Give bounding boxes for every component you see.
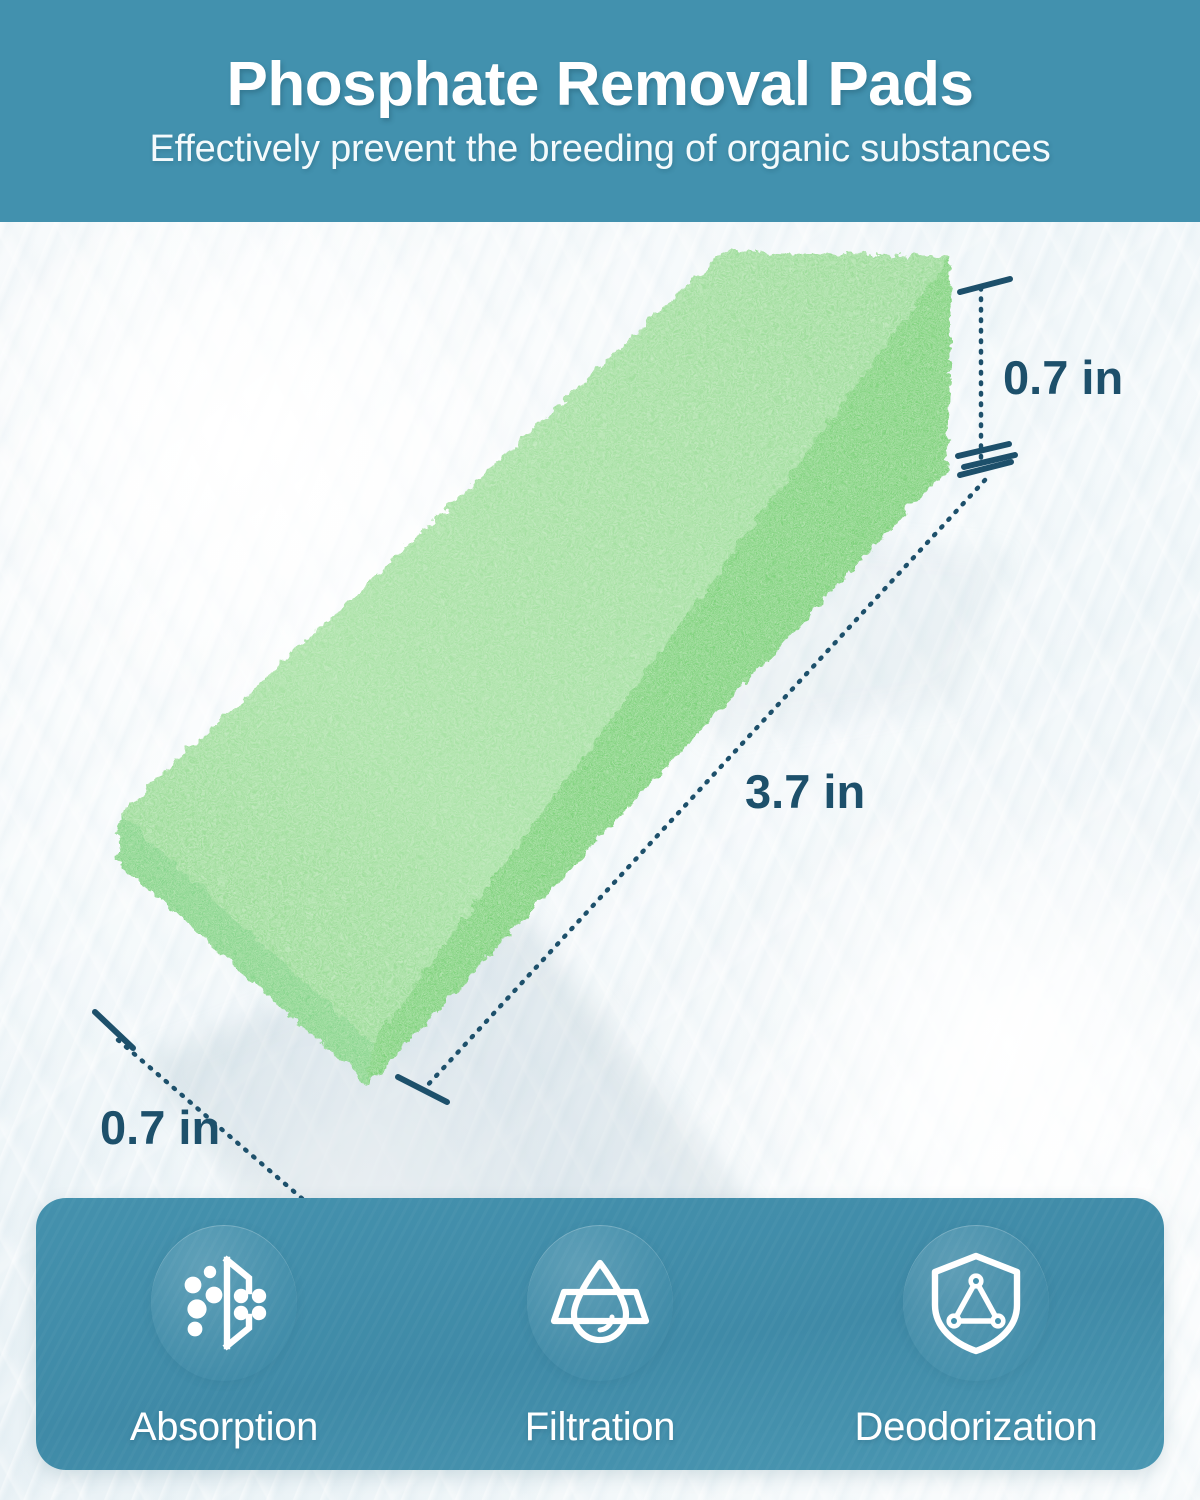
page-subtitle: Effectively prevent the breeding of orga… <box>149 129 1050 171</box>
dimension-label-width: 0.7 in <box>100 1101 220 1154</box>
feature-label: Deodorization <box>855 1405 1098 1450</box>
deodorization-icon <box>926 1251 1026 1355</box>
feature-label: Absorption <box>130 1405 318 1450</box>
feature-item-absorption[interactable]: Absorption <box>36 1198 412 1470</box>
page-title: Phosphate Removal Pads <box>226 52 973 117</box>
dimension-label-height: 0.7 in <box>1003 351 1123 404</box>
filtration-icon <box>548 1255 652 1351</box>
feature-icon-badge <box>527 1225 673 1381</box>
feature-item-deodorization[interactable]: Deodorization <box>788 1198 1164 1470</box>
feature-card: Absorption Filtration <box>36 1198 1164 1470</box>
absorption-icon <box>176 1255 272 1351</box>
feature-label: Filtration <box>525 1405 675 1450</box>
feature-icon-badge <box>151 1225 297 1381</box>
dimension-label-length: 3.7 in <box>745 765 865 818</box>
feature-icon-badge <box>903 1225 1049 1381</box>
feature-item-filtration[interactable]: Filtration <box>412 1198 788 1470</box>
page-header: Phosphate Removal Pads Effectively preve… <box>0 0 1200 222</box>
